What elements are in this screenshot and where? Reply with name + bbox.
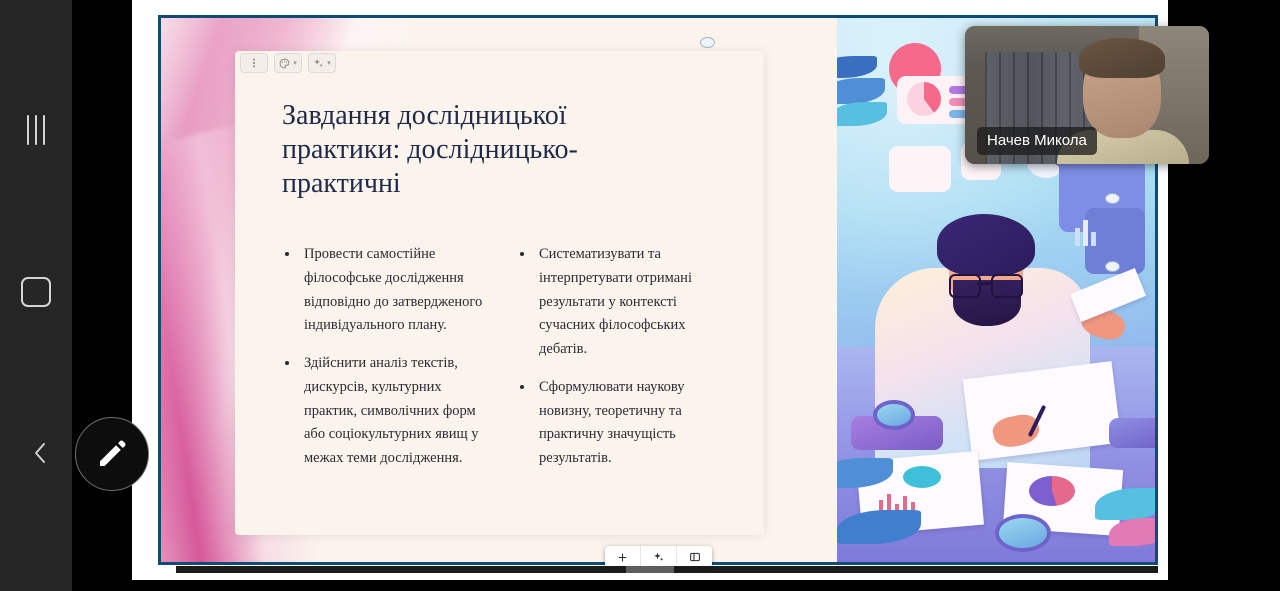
chevron-down-icon: ▾ (293, 60, 297, 67)
slide-action-toolbar[interactable] (605, 546, 712, 568)
list-item: Сформулювати наукову новизну, теоретичну… (512, 376, 727, 471)
top-resize-handle[interactable] (700, 37, 715, 48)
decor-minibar-2 (1083, 220, 1088, 246)
illustration-glasses (947, 274, 1029, 294)
slide-title: Завдання дослідницької практики: дослідн… (282, 99, 682, 201)
decor-minibar-1 (1075, 228, 1080, 246)
slide-text-card[interactable]: ▾ ▾ Завдання дослідницької практики: дос… (235, 51, 764, 535)
bullet-column-right: Систематизувати та інтерпретувати отрима… (512, 243, 727, 485)
right-resize-handle-upper[interactable] (1105, 193, 1120, 204)
add-slide-button[interactable] (605, 546, 641, 568)
participant-name-label: Начев Микола (977, 127, 1097, 155)
slide-bullets: Провести самостійне філософське дослідже… (277, 243, 737, 485)
illustration-magnifier-top (873, 400, 915, 430)
illustration-pie-on-paper (1029, 476, 1075, 506)
list-item: Здійснити аналіз текстів, дискурсів, кул… (277, 352, 492, 471)
illustration-circle-teal (903, 466, 941, 488)
bullet-column-left: Провести самостійне філософське дослідже… (277, 243, 492, 485)
horizontal-scrollbar[interactable] (176, 566, 1158, 573)
palette-icon[interactable]: ▾ (274, 53, 302, 73)
scrollbar-thumb[interactable] (626, 566, 674, 573)
ai-assist-button[interactable] (641, 546, 677, 568)
more-options-icon[interactable] (240, 53, 268, 73)
sparkle-ai-icon[interactable]: ▾ (308, 53, 336, 73)
list-item: Систематизувати та інтерпретувати отрима… (512, 243, 727, 362)
chevron-left-icon[interactable] (28, 438, 54, 468)
layout-button[interactable] (677, 546, 712, 568)
app-rail[interactable] (0, 0, 72, 591)
decor-minibar-3 (1091, 232, 1096, 246)
chevron-down-icon: ▾ (327, 60, 331, 67)
list-item: Провести самостійне філософське дослідже… (277, 243, 492, 338)
video-person-hair (1079, 38, 1165, 78)
decor-speech-bubble (889, 146, 951, 192)
card-toolbar[interactable]: ▾ ▾ (240, 53, 336, 73)
participant-video-tile[interactable]: Начев Микола (965, 26, 1209, 164)
rounded-square-icon[interactable] (0, 272, 72, 312)
illustration-magnifier-bottom (995, 514, 1051, 552)
illustration-hair (937, 214, 1035, 276)
right-resize-handle-lower[interactable] (1105, 261, 1120, 272)
edit-fab-button[interactable] (75, 417, 149, 491)
decor-pie-slice (907, 82, 941, 116)
illustration-book-stack (1109, 418, 1155, 448)
three-vertical-bars-icon[interactable] (0, 112, 72, 148)
